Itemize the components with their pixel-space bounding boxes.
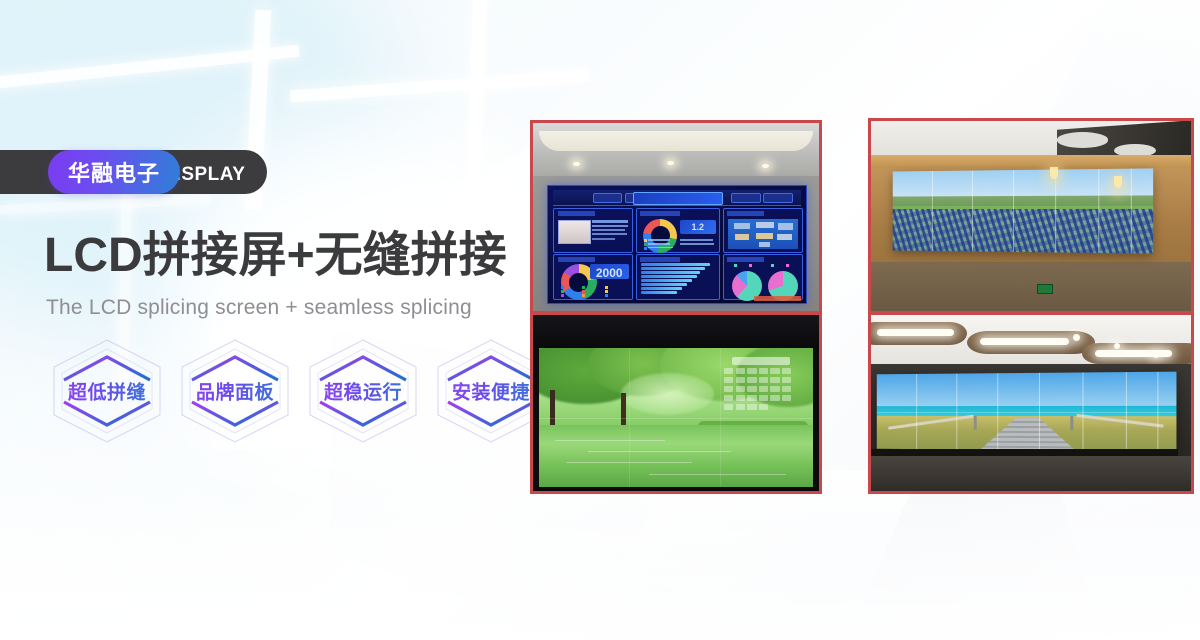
calendar-day	[724, 395, 733, 401]
calendar-day	[724, 386, 733, 392]
stat-value: 1.2	[680, 222, 716, 232]
tree-trunk	[621, 393, 626, 429]
card-header	[640, 257, 680, 262]
legend-dot	[605, 286, 608, 289]
ranking-bar	[641, 291, 677, 293]
ranking-bar	[641, 275, 697, 277]
feature-label: 超低拼缝	[48, 378, 166, 405]
lake-water	[539, 425, 814, 488]
legend-label	[648, 243, 669, 245]
videowall-screen	[539, 348, 814, 487]
water-ripple	[588, 451, 731, 452]
card-header	[727, 211, 764, 216]
scene-corridor	[871, 121, 1191, 311]
calendar-day	[770, 395, 779, 401]
wall-sconce	[1050, 167, 1058, 179]
text-line	[592, 229, 624, 231]
panel-seam	[932, 171, 933, 251]
card-header	[558, 257, 595, 262]
legend-label	[648, 247, 673, 249]
tree-trunk	[550, 390, 555, 429]
feature-label: 超稳运行	[304, 378, 422, 405]
calendar-day	[736, 395, 745, 401]
legend-label	[680, 243, 715, 245]
brand-badge: 华融电子	[48, 150, 180, 194]
videowall-base	[871, 449, 1178, 456]
calendar-header	[732, 357, 790, 365]
calendar-day	[770, 386, 779, 392]
calendar-weekday	[736, 368, 745, 374]
videowall-beach	[877, 372, 1176, 452]
flow-node	[756, 222, 774, 228]
legend-dot	[644, 247, 647, 250]
scene-lake-videowall	[533, 315, 819, 491]
calendar-day	[724, 404, 733, 410]
calendar-day	[782, 386, 791, 392]
calendar-day	[759, 404, 768, 410]
legend-dot	[734, 264, 737, 267]
feature-item-stable-operation: 超稳运行	[304, 336, 422, 446]
card-thumbnail	[558, 220, 591, 244]
calendar-weekday	[724, 368, 733, 374]
card-header	[727, 257, 764, 262]
page-subtitle: The LCD splicing screen + seamless splic…	[46, 296, 472, 320]
legend-dot	[605, 294, 608, 297]
flow-node	[735, 234, 749, 239]
dashboard-title-plate	[633, 192, 724, 205]
feature-label: 品牌面板	[176, 378, 294, 405]
ranking-bar	[641, 283, 687, 285]
panel-seam	[1013, 170, 1014, 252]
calendar-day	[759, 395, 768, 401]
flow-node	[777, 234, 792, 240]
screen-bezel-right	[813, 348, 819, 491]
badge-row: 商显大屏 / DISPLAY 华融电子	[48, 150, 267, 194]
ceiling-downlight	[1073, 334, 1080, 341]
panel-seam	[972, 171, 973, 252]
topbar-tab	[731, 193, 760, 203]
wood-wall-lower	[871, 262, 1191, 311]
ranking-bar	[641, 279, 692, 281]
calendar-day	[759, 386, 768, 392]
ranking-bar	[641, 263, 710, 265]
legend-dot	[561, 294, 564, 297]
legend-dot	[582, 294, 585, 297]
legend-label	[680, 239, 713, 241]
ceiling-spotlight	[667, 161, 674, 165]
calendar-overlay	[723, 357, 800, 421]
dashboard-card-donut: 1.2	[636, 208, 720, 253]
water-ripple	[649, 474, 786, 475]
calendar-day	[747, 377, 756, 383]
legend-dot	[561, 290, 564, 293]
legend-label	[648, 239, 669, 241]
dashboard-topbar	[553, 190, 800, 206]
railing-post	[1070, 416, 1073, 430]
bottom-fade	[0, 490, 1200, 640]
dashboard-card-stat: 2000	[553, 254, 632, 300]
topbar-tab	[763, 193, 792, 203]
scene-lobby	[871, 315, 1191, 491]
calendar-day	[736, 404, 745, 410]
calendar-weekday	[770, 368, 779, 374]
calendar-day	[747, 395, 756, 401]
panel-seam	[1131, 169, 1132, 253]
stat-tile: 2000	[590, 264, 629, 279]
ceiling-light-strip	[1095, 350, 1172, 357]
panel-seam-horizontal	[539, 418, 814, 419]
feature-list: 超低拼缝 品牌面板 超稳运行	[48, 336, 550, 446]
calendar-weekday	[747, 368, 756, 374]
donut-hole	[569, 273, 588, 292]
ceiling-light-strip	[980, 338, 1070, 345]
photo-corridor-solar-videowall	[868, 118, 1194, 314]
ceiling-vent	[1057, 132, 1108, 147]
dashboard-card-pies	[723, 254, 802, 300]
calendar-day	[736, 386, 745, 392]
flow-node	[778, 223, 793, 230]
legend-dot	[749, 264, 752, 267]
stat-tile: 1.2	[680, 220, 716, 235]
water-ripple	[555, 440, 665, 441]
exit-sign	[1037, 284, 1053, 294]
ceiling-band	[539, 131, 814, 152]
text-line	[592, 238, 615, 240]
panel-seam	[1055, 170, 1056, 253]
text-line	[592, 220, 628, 222]
photo-control-room-dashboard: 1.2	[530, 120, 822, 314]
calendar-day	[724, 377, 733, 383]
calendar-weekday	[782, 368, 791, 374]
light-haze	[621, 373, 714, 415]
sky	[877, 372, 1176, 409]
panel-seam-horizontal	[877, 412, 1176, 413]
flow-diagram	[728, 219, 797, 249]
text-line	[592, 225, 628, 227]
calendar-day	[782, 395, 791, 401]
stat-value: 2000	[590, 266, 629, 280]
product-banner: 商显大屏 / DISPLAY 华融电子 LCD拼接屏+无缝拼接 The LCD …	[0, 0, 1200, 640]
videowall-dashboard: 1.2	[547, 185, 806, 304]
railing-post	[974, 416, 977, 430]
photo-willow-lake-videowall	[530, 312, 822, 494]
ranking-bar	[641, 287, 682, 289]
scene-control-room: 1.2	[533, 123, 819, 311]
calendar-weekday	[759, 368, 768, 374]
ranking-bar	[641, 267, 705, 269]
dashboard-footer-badge	[754, 296, 800, 302]
legend-dot	[582, 286, 585, 289]
legend-dot	[771, 264, 774, 267]
photo-lobby-beach-videowall	[868, 312, 1194, 494]
flow-node	[756, 233, 773, 239]
text-line	[592, 233, 627, 235]
ceiling-downlight	[1153, 352, 1159, 358]
dashboard-card-ranking	[636, 254, 720, 300]
flow-node	[759, 242, 770, 247]
dashboard-card-intro	[553, 208, 632, 253]
flow-node	[734, 223, 751, 230]
feature-item-brand-panel: 品牌面板	[176, 336, 294, 446]
legend-dot	[786, 264, 789, 267]
ceiling-light-strip	[877, 329, 954, 336]
legend-dot	[644, 243, 647, 246]
dashboard-card-flow	[723, 208, 802, 253]
legend-dot	[561, 286, 564, 289]
ranking-bar	[641, 271, 700, 273]
screen-bezel-top	[533, 315, 819, 348]
legend-dot	[644, 239, 647, 242]
panel-seam	[1098, 169, 1099, 253]
calendar-day	[747, 386, 756, 392]
feature-item-ultra-narrow-bezel: 超低拼缝	[48, 336, 166, 446]
legend-dot	[605, 290, 608, 293]
calendar-day	[770, 377, 779, 383]
page-title: LCD拼接屏+无缝拼接	[44, 232, 507, 280]
legend-dot	[582, 290, 585, 293]
calendar-day	[747, 404, 756, 410]
card-header	[640, 211, 680, 216]
calendar-day	[759, 377, 768, 383]
floor	[871, 456, 1191, 491]
wood-trim-top	[871, 155, 1191, 168]
calendar-day	[736, 377, 745, 383]
card-header	[558, 211, 595, 216]
topbar-tab	[593, 193, 622, 203]
calendar-day	[782, 377, 791, 383]
